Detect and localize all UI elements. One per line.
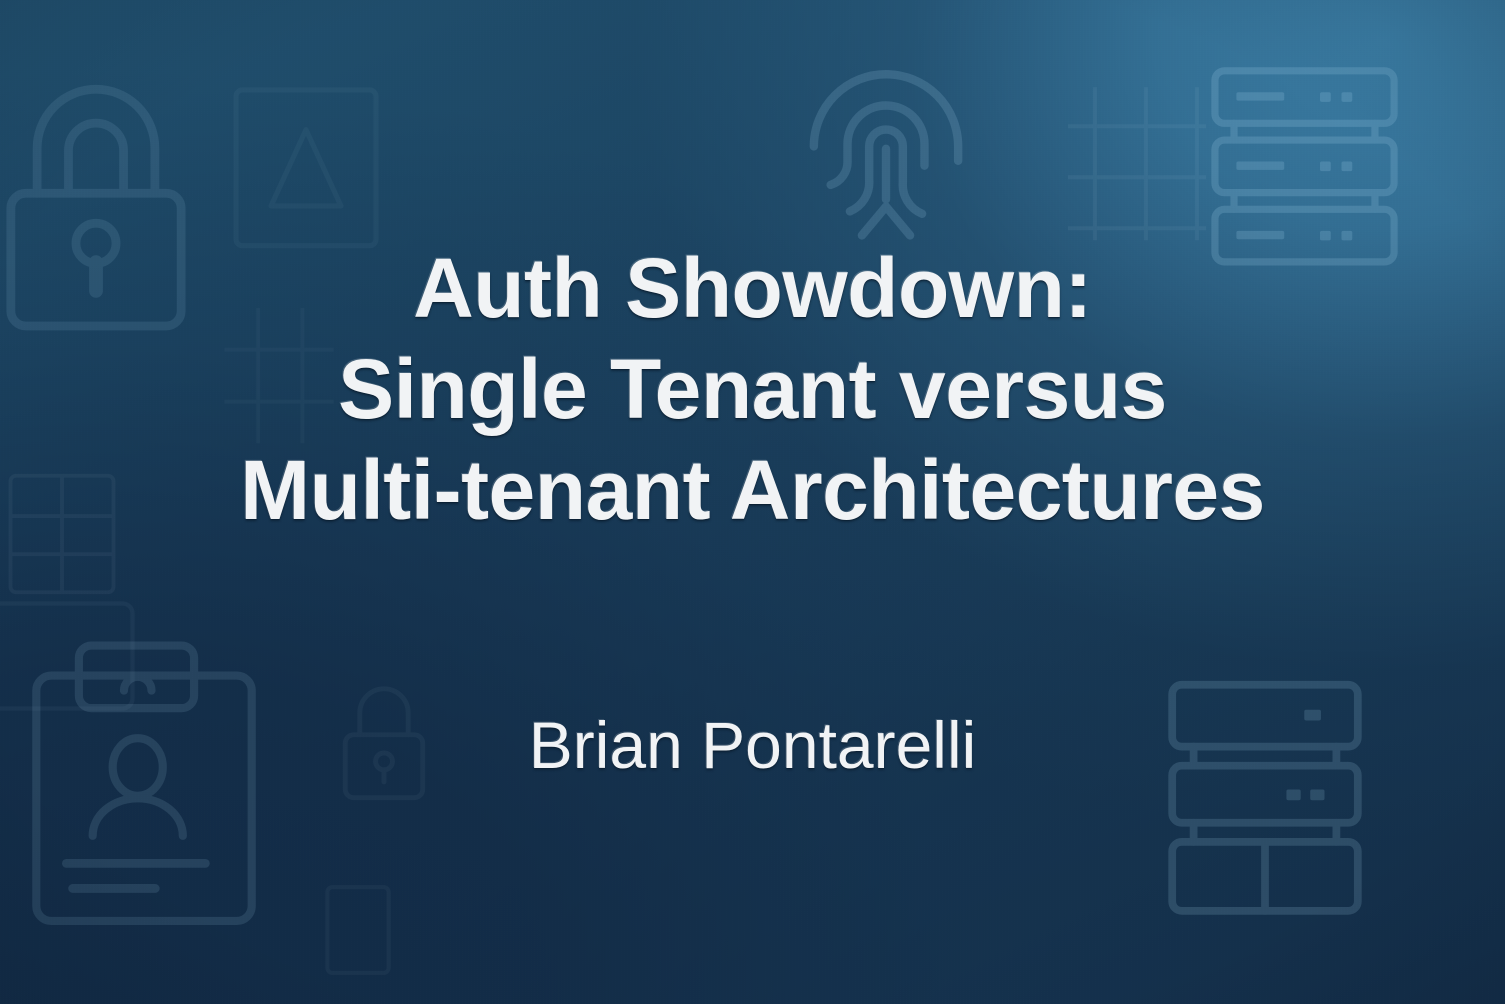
panel-outline-icon [0, 596, 150, 716]
author-name: Brian Pontarelli [0, 706, 1505, 784]
title-line-2: Single Tenant versus [0, 339, 1505, 440]
title-line-3: Multi-tenant Architectures [0, 440, 1505, 541]
grid-pattern-icon [1062, 84, 1212, 242]
fingerprint-icon [806, 55, 966, 245]
title-line-1: Auth Showdown: [0, 238, 1505, 339]
shield-icon [226, 82, 386, 260]
title-block: Auth Showdown: Single Tenant versus Mult… [0, 238, 1505, 541]
card-icon [322, 882, 394, 978]
title-slide: Auth Showdown: Single Tenant versus Mult… [0, 0, 1505, 1004]
